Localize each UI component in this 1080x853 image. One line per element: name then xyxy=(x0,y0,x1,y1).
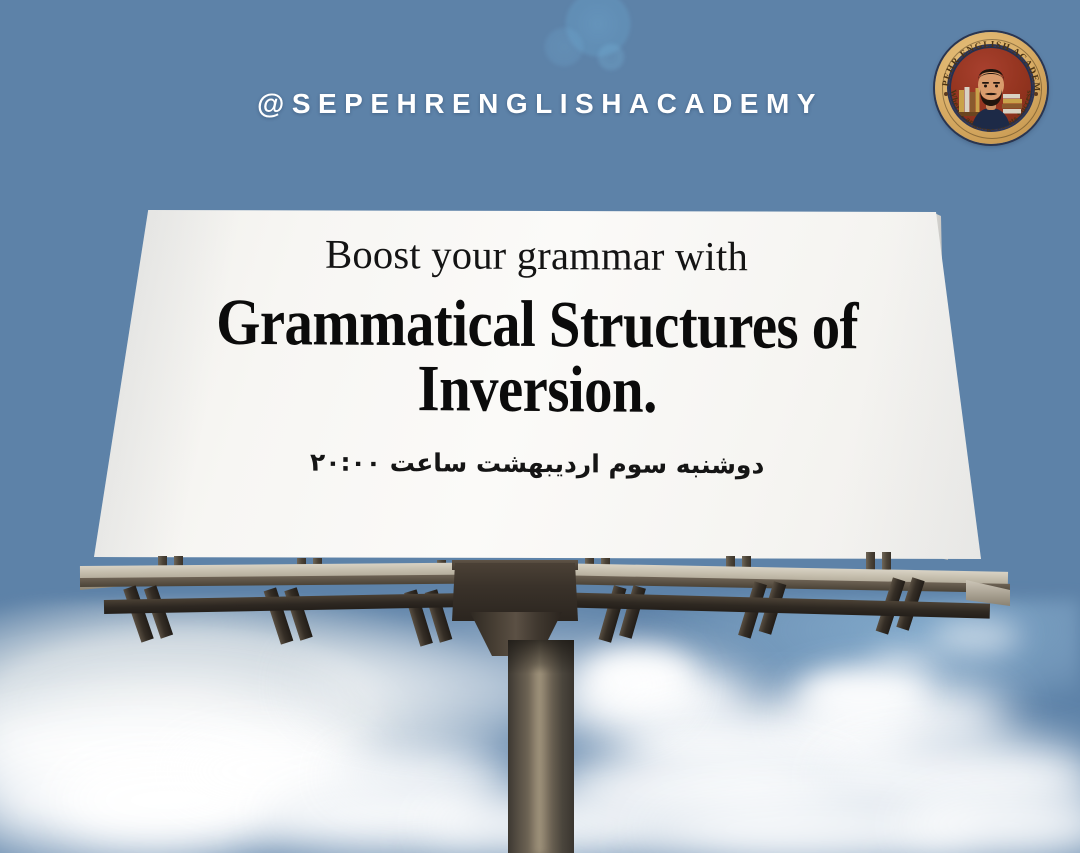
pole-highlight xyxy=(530,668,550,853)
promo-image-canvas: Boost your grammar with Grammatical Stru… xyxy=(0,0,1080,853)
account-handle: @SEPEHRENGLISHACADEMY xyxy=(0,88,1080,120)
pole-top-shadow xyxy=(508,640,574,674)
billboard-support-truss xyxy=(0,0,1080,853)
logo-portrait-illustration xyxy=(935,32,1047,144)
academy-logo-badge[interactable]: SEPEHR ENGLISH ACADEMY Where Language Me… xyxy=(935,32,1047,144)
